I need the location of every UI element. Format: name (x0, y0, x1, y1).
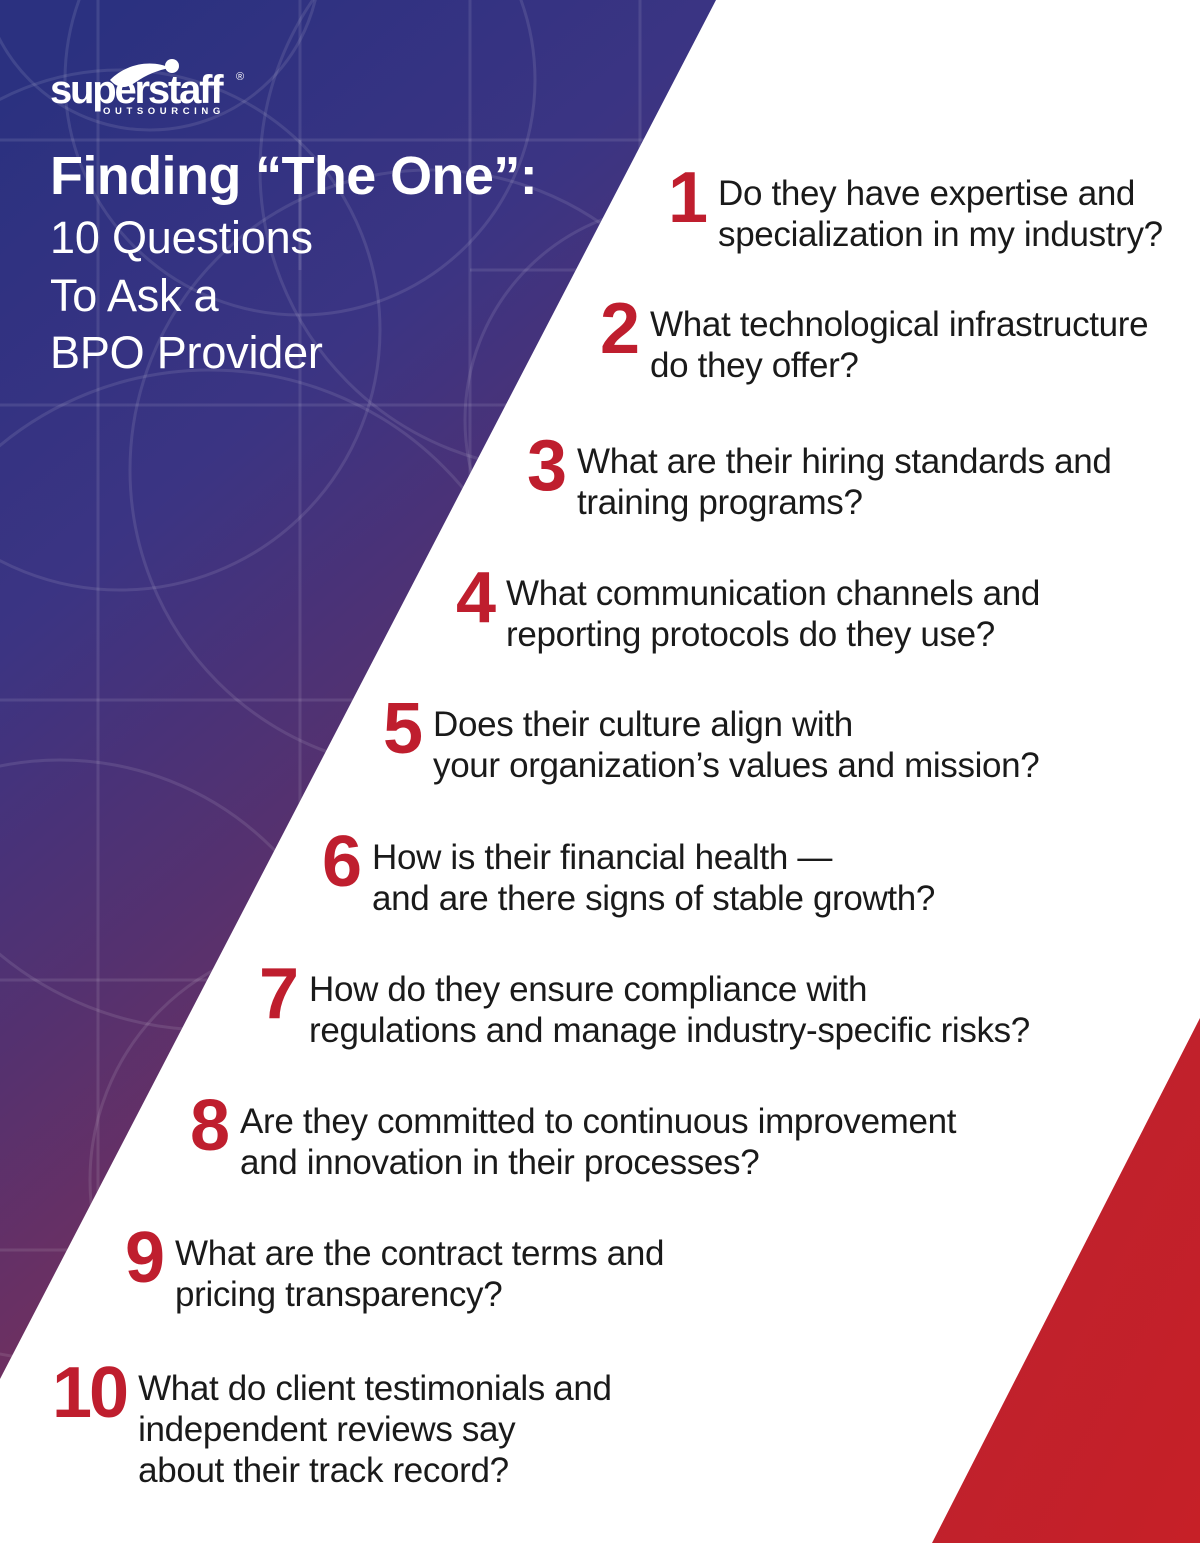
question-text-line: training programs? (577, 483, 1111, 524)
question-text-line: pricing transparency? (175, 1275, 664, 1316)
question-number: 1 (668, 168, 706, 230)
question-item: 10What do client testimonials andindepen… (52, 1367, 612, 1492)
question-number: 4 (456, 568, 494, 630)
question-text-line: Are they committed to continuous improve… (240, 1102, 956, 1143)
question-number: 10 (52, 1363, 126, 1425)
question-text: Are they committed to continuous improve… (240, 1100, 956, 1184)
question-text-line: Do they have expertise and (718, 174, 1163, 215)
question-item: 9What are the contract terms andpricing … (125, 1232, 664, 1316)
question-text-line: How do they ensure compliance with (309, 970, 1030, 1011)
question-text-line: How is their financial health — (372, 838, 935, 879)
question-text-line: What are the contract terms and (175, 1234, 664, 1275)
question-item: 1Do they have expertise andspecializatio… (668, 172, 1163, 256)
question-text: What are the contract terms andpricing t… (175, 1232, 664, 1316)
question-number: 5 (383, 699, 421, 761)
question-text-line: and innovation in their processes? (240, 1143, 956, 1184)
question-text-line: What do client testimonials and (138, 1369, 612, 1410)
question-text-line: What technological infrastructure (650, 305, 1148, 346)
question-number: 9 (125, 1228, 163, 1290)
question-text-line: What communication channels and (506, 574, 1040, 615)
question-number: 7 (259, 964, 297, 1026)
question-text: What communication channels andreporting… (506, 572, 1040, 656)
question-text-line: about their track record? (138, 1451, 612, 1492)
question-item: 3What are their hiring standards andtrai… (527, 440, 1111, 524)
question-item: 4What communication channels andreportin… (456, 572, 1040, 656)
question-text: How do they ensure compliance withregula… (309, 968, 1030, 1052)
question-number: 8 (190, 1096, 228, 1158)
question-text: Does their culture align withyour organi… (433, 703, 1039, 787)
question-text-line: specialization in my industry? (718, 215, 1163, 256)
question-number: 3 (527, 436, 565, 498)
question-text: What are their hiring standards andtrain… (577, 440, 1111, 524)
question-item: 8Are they committed to continuous improv… (190, 1100, 956, 1184)
question-text-line: reporting protocols do they use? (506, 615, 1040, 656)
question-text-line: your organization’s values and mission? (433, 746, 1039, 787)
question-text-line: and are there signs of stable growth? (372, 879, 935, 920)
question-text: What do client testimonials andindepende… (138, 1367, 612, 1492)
question-item: 6How is their financial health —and are … (322, 836, 935, 920)
question-text-line: regulations and manage industry-specific… (309, 1011, 1030, 1052)
question-text-line: do they offer? (650, 346, 1148, 387)
question-number: 6 (322, 832, 360, 894)
question-text-line: independent reviews say (138, 1410, 612, 1451)
question-item: 5Does their culture align withyour organ… (383, 703, 1039, 787)
question-number: 2 (600, 299, 638, 361)
question-text-line: Does their culture align with (433, 705, 1039, 746)
question-item: 7How do they ensure compliance withregul… (259, 968, 1030, 1052)
question-text: How is their financial health —and are t… (372, 836, 935, 920)
question-text: What technological infrastructuredo they… (650, 303, 1148, 387)
question-text: Do they have expertise andspecialization… (718, 172, 1163, 256)
infographic-canvas: superstaff ® OUTSOURCING Finding “The On… (0, 0, 1200, 1543)
question-item: 2What technological infrastructuredo the… (600, 303, 1148, 387)
question-text-line: What are their hiring standards and (577, 442, 1111, 483)
questions-list: 1Do they have expertise andspecializatio… (0, 0, 1200, 1543)
